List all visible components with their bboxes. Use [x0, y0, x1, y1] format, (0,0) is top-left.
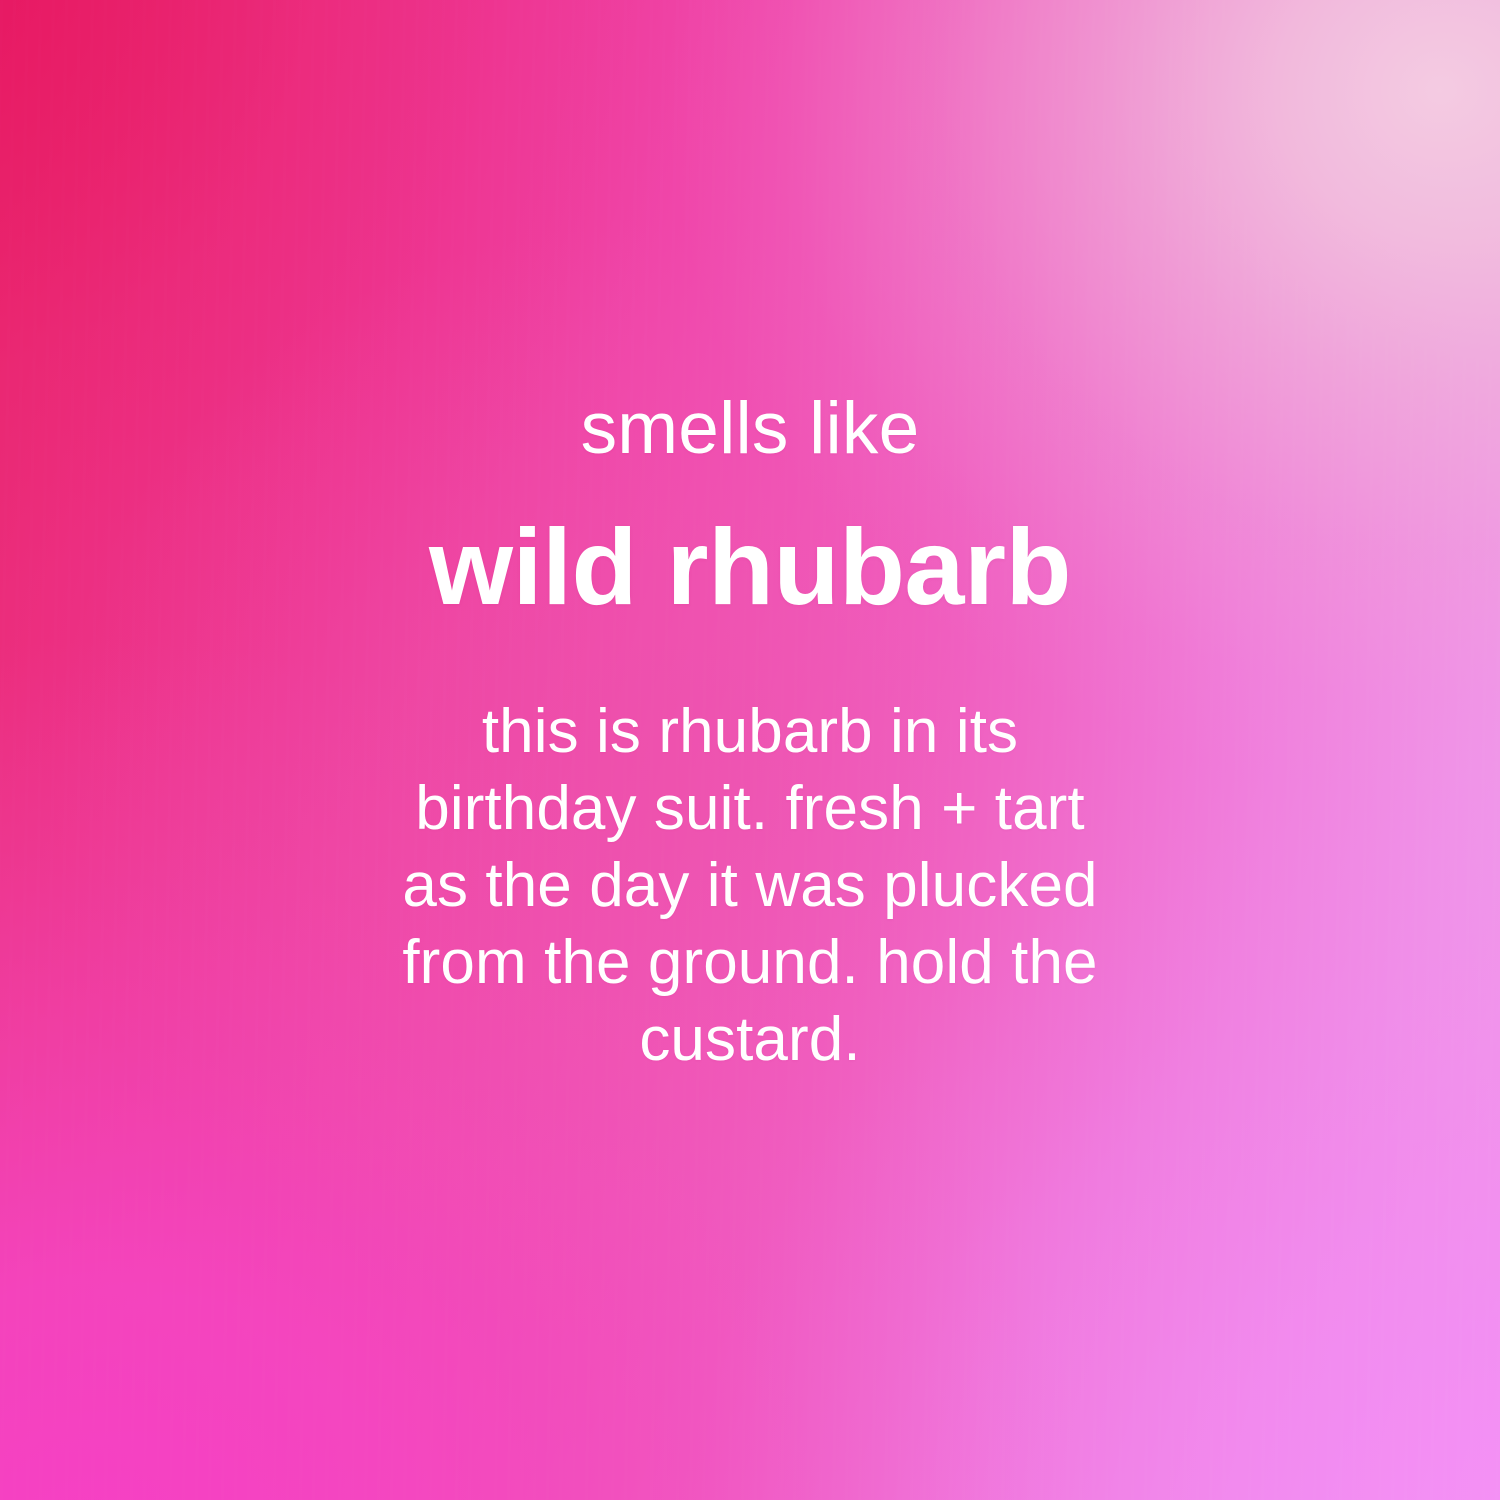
description-line: from the ground. hold the [380, 924, 1120, 1001]
product-card: smells like wild rhubarb this is rhubarb… [0, 0, 1500, 1500]
description-line: custard. [380, 1001, 1120, 1078]
description-line: this is rhubarb in its [380, 693, 1120, 770]
description-line: birthday suit. fresh + tart [380, 770, 1120, 847]
card-content: smells like wild rhubarb this is rhubarb… [0, 0, 1500, 1500]
description-line: as the day it was plucked [380, 847, 1120, 924]
product-name-heading: wild rhubarb [429, 513, 1071, 621]
product-description: this is rhubarb in its birthday suit. fr… [380, 693, 1120, 1078]
eyebrow-label: smells like [581, 392, 920, 465]
